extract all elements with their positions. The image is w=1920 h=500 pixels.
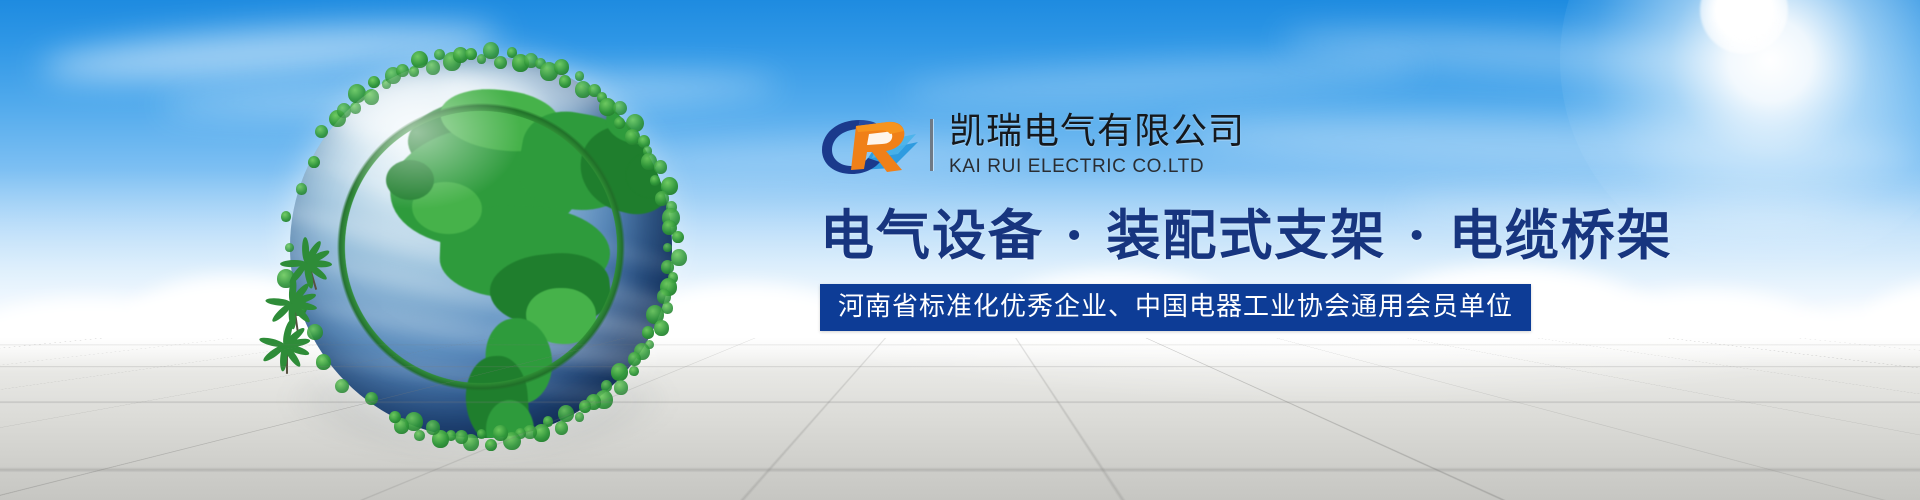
rim-tree [654,320,669,336]
globe-vegetation-rim [282,48,680,446]
rim-tree [465,48,477,61]
rim-tree [315,125,328,139]
rim-tree [554,59,569,75]
rim-tree [613,101,627,116]
credential-ribbon: 河南省标准化优秀企业、中国电器工业协会通用会员单位 [820,284,1531,331]
rim-tree [426,60,440,75]
rim-tree [559,75,571,88]
rim-tree [672,231,684,244]
rim-tree [555,421,568,435]
rim-tree [348,84,366,103]
rim-tree [281,211,291,222]
rim-tree [629,366,639,377]
rim-tree [575,71,584,80]
hero-banner: 凯瑞电气有限公司 KAI RUI ELECTRIC CO.LTD 电气设备 · … [0,0,1920,500]
rim-tree [308,156,320,169]
rim-tree [316,354,331,370]
rim-tree [455,430,468,444]
brand-names: 凯瑞电气有限公司 KAI RUI ELECTRIC CO.LTD [949,112,1245,179]
brand-divider [930,119,933,171]
rim-tree [350,102,361,114]
rim-tree [642,326,654,339]
rim-tree [396,64,409,78]
rim-tree [364,89,379,105]
rim-tree [335,379,349,394]
rim-tree [409,66,419,77]
rim-tree [663,243,672,252]
rim-tree [579,400,591,413]
rim-tree [494,56,507,70]
rim-tree [650,175,660,186]
rim-tree [307,324,323,341]
banner-content: 凯瑞电气有限公司 KAI RUI ELECTRIC CO.LTD 电气设备 · … [820,108,1580,331]
rim-tree [558,405,574,422]
rim-tree [493,425,508,441]
cr-monogram-logo-icon [820,112,924,178]
green-earth-globe [268,40,688,460]
company-name-en: KAI RUI ELECTRIC CO.LTD [949,155,1245,179]
rim-tree [654,160,667,174]
headline-text: 电气设备 · 装配式支架 · 电缆桥架 [820,204,1580,266]
rim-tree [337,103,351,118]
rim-tree [614,380,628,395]
rim-tree [368,76,380,89]
brand-row: 凯瑞电气有限公司 KAI RUI ELECTRIC CO.LTD [820,108,1580,182]
rim-tree [296,183,307,195]
rim-tree [628,352,641,366]
rim-tree [389,411,401,424]
rim-tree [365,392,378,406]
rim-tree [614,117,625,129]
rim-tree [285,243,294,252]
rim-tree [611,363,628,381]
rim-tree [426,420,440,435]
rim-tree [575,412,584,421]
rim-tree [662,302,673,314]
company-name-cn: 凯瑞电气有限公司 [949,112,1245,152]
